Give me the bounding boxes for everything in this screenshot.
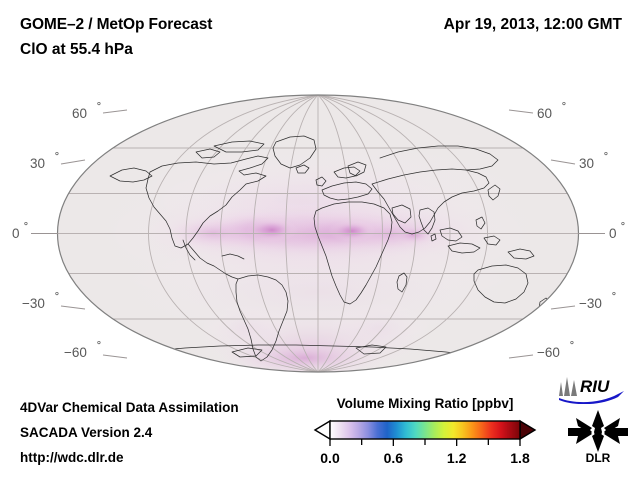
- colorbar-legend: Volume Mixing Ratio [ppbv]: [305, 396, 545, 476]
- svg-text:˚: ˚: [562, 101, 567, 116]
- globe-body: [58, 95, 579, 380]
- timestamp-label: Apr 19, 2013, 12:00 GMT: [444, 16, 622, 34]
- riu-wordmark: RIU: [580, 377, 610, 396]
- colorbar-extend-low-arrow: [315, 421, 330, 439]
- footer-line-assimilation: 4DVar Chemical Data Assimilation: [20, 400, 239, 415]
- lat-label-right-minus30: −30 ˚: [551, 291, 617, 311]
- lat-label-right-60: 60 ˚: [509, 101, 567, 121]
- svg-text:˚: ˚: [24, 221, 29, 236]
- footer-line-url[interactable]: http://wdc.dlr.de: [20, 450, 124, 465]
- colorbar-extend-high-arrow: [520, 421, 535, 439]
- map-svg: 60 ˚ 30 ˚ 0 ˚ −30 ˚: [0, 80, 640, 385]
- colorbar-tick-label-3: 1.8: [510, 450, 530, 466]
- colorbar-title: Volume Mixing Ratio [ppbv]: [305, 396, 545, 411]
- riu-spikes-icon: [559, 377, 577, 396]
- colorbar-tick-label-0: 0.0: [320, 450, 340, 466]
- map-panel: 60 ˚ 30 ˚ 0 ˚ −30 ˚: [0, 80, 640, 385]
- lat-label-left-0: 0 ˚: [12, 221, 58, 241]
- dlr-logo-icon: DLR: [562, 408, 634, 464]
- page-subtitle: ClO at 55.4 hPa: [20, 41, 133, 59]
- svg-text:60: 60: [72, 106, 87, 121]
- svg-text:˚: ˚: [97, 340, 102, 355]
- colorbar-tick-label-2: 1.2: [447, 450, 467, 466]
- svg-text:60: 60: [537, 106, 552, 121]
- svg-text:˚: ˚: [55, 291, 60, 306]
- lat-label-left-60: 60 ˚: [72, 101, 127, 121]
- lat-label-left-minus30: −30 ˚: [22, 291, 85, 311]
- colorbar-ticks: [330, 439, 520, 446]
- dlr-logo: DLR: [562, 408, 634, 464]
- lat-label-left-minus60: −60 ˚: [64, 340, 127, 360]
- page-title: GOME–2 / MetOp Forecast: [20, 16, 212, 34]
- dlr-wordmark: DLR: [586, 451, 611, 464]
- svg-text:˚: ˚: [621, 221, 626, 236]
- svg-text:30: 30: [30, 156, 45, 171]
- svg-text:−30: −30: [22, 296, 45, 311]
- svg-text:˚: ˚: [604, 151, 609, 166]
- riu-logo-icon: RIU: [556, 374, 634, 404]
- lat-label-left-30: 30 ˚: [30, 151, 85, 171]
- svg-text:30: 30: [579, 156, 594, 171]
- colorbar-gradient-bar: [330, 421, 520, 439]
- svg-text:˚: ˚: [55, 151, 60, 166]
- colorbar-tick-label-1: 0.6: [384, 450, 404, 466]
- svg-text:−30: −30: [579, 296, 602, 311]
- riu-logo: RIU: [556, 374, 634, 404]
- dlr-pinwheel-icon: [568, 410, 628, 452]
- svg-text:0: 0: [609, 226, 617, 241]
- lat-label-right-30: 30 ˚: [551, 151, 609, 171]
- lat-label-right-0: 0 ˚: [578, 221, 626, 241]
- svg-text:˚: ˚: [612, 291, 617, 306]
- svg-text:˚: ˚: [97, 101, 102, 116]
- colorbar-svg: 0.0 0.6 1.2 1.8: [305, 416, 545, 474]
- figure-root: GOME–2 / MetOp Forecast ClO at 55.4 hPa …: [0, 0, 640, 480]
- svg-text:0: 0: [12, 226, 20, 241]
- lat-label-right-minus60: −60 ˚: [509, 340, 575, 360]
- svg-text:˚: ˚: [570, 340, 575, 355]
- svg-text:−60: −60: [64, 345, 87, 360]
- svg-text:−60: −60: [537, 345, 560, 360]
- footer-line-version: SACADA Version 2.4: [20, 425, 152, 440]
